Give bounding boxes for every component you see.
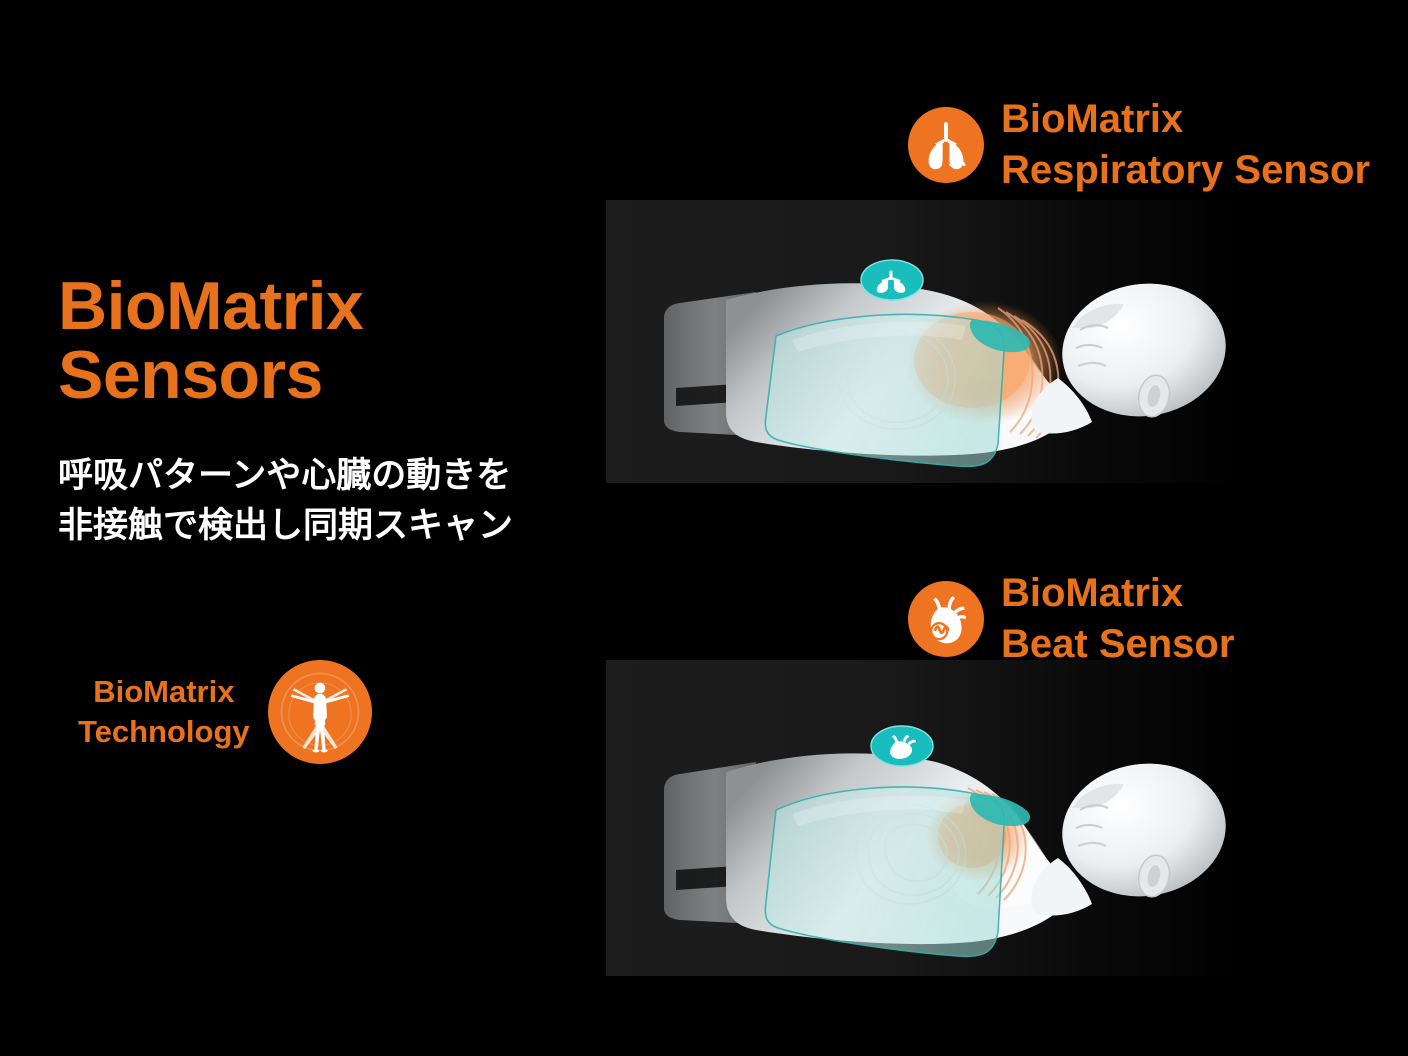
heart-tag-icon-group xyxy=(871,726,933,766)
beat-scan-illustration xyxy=(606,660,1246,976)
callout-respiratory-label: BioMatrix Respiratory Sensor xyxy=(1001,94,1370,196)
callout-respiratory-sensor: BioMatrix Respiratory Sensor xyxy=(908,94,1370,196)
beat-sensor-badge xyxy=(908,581,984,657)
callout-beat-label: BioMatrix Beat Sensor xyxy=(1001,568,1234,670)
page-title: BioMatrix Sensors xyxy=(58,272,598,411)
lungs-waveform-icon xyxy=(908,107,984,183)
illustration-panel-respiratory xyxy=(606,200,1246,483)
biomatrix-technology-badge: BioMatrix Technology xyxy=(78,660,372,764)
callout-beat-sensor: BioMatrix Beat Sensor xyxy=(908,568,1234,670)
slide-root: BioMatrix Sensors 呼吸パターンや心臓の動きを 非接触で検出し同… xyxy=(0,0,1408,1056)
biomatrix-coil xyxy=(765,314,1030,466)
illustration-panel-beat xyxy=(606,660,1246,976)
respiratory-scan-illustration xyxy=(606,200,1246,483)
lungs-tag-icon-group xyxy=(861,260,923,300)
technology-badge-circle xyxy=(268,660,372,764)
left-content-column: BioMatrix Sensors 呼吸パターンや心臓の動きを 非接触で検出し同… xyxy=(58,272,598,552)
biomatrix-coil xyxy=(765,787,1030,956)
subtitle-line-1: 呼吸パターンや心臓の動きを xyxy=(58,451,598,502)
heart-waveform-icon xyxy=(908,581,984,657)
subtitle-block: 呼吸パターンや心臓の動きを 非接触で検出し同期スキャン xyxy=(58,451,598,553)
vitruvian-man-icon xyxy=(268,660,372,764)
technology-badge-label: BioMatrix Technology xyxy=(78,672,250,751)
subtitle-line-2: 非接触で検出し同期スキャン xyxy=(58,501,598,552)
respiratory-sensor-badge xyxy=(908,107,984,183)
